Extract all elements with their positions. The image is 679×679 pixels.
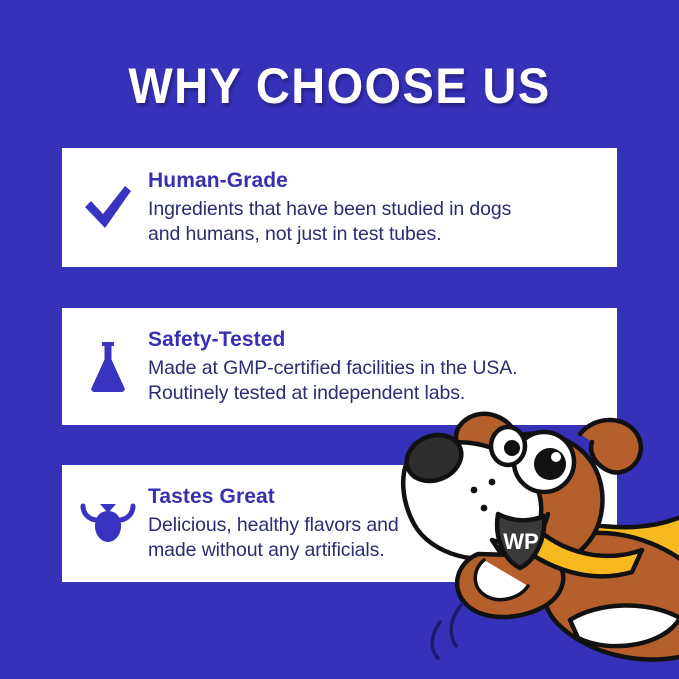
- motion-line: [432, 622, 440, 658]
- checkmark-icon: [62, 148, 148, 267]
- flask-icon: [62, 308, 148, 425]
- pupil-left: [504, 440, 520, 456]
- feature-card-text: Made at GMP-certified facilities in the …: [148, 356, 518, 406]
- feature-card-heading: Tastes Great: [148, 484, 399, 510]
- feature-card-text: Delicious, healthy flavors and made with…: [148, 513, 399, 563]
- belly: [570, 605, 679, 646]
- feature-card-safety-tested: Safety-Tested Made at GMP-certified faci…: [62, 308, 617, 425]
- promo-graphic: WHY CHOOSE US Human-Grade Ingredients th…: [0, 0, 679, 679]
- feature-card-human-grade: Human-Grade Ingredients that have been s…: [62, 148, 617, 267]
- feature-card-body: Safety-Tested Made at GMP-certified faci…: [148, 327, 532, 406]
- feature-card-body: Tastes Great Delicious, healthy flavors …: [148, 484, 413, 563]
- eye-glint: [551, 452, 561, 462]
- page-title: WHY CHOOSE US: [20, 56, 658, 116]
- tongue-icon: [62, 465, 148, 582]
- feature-card-tastes-great: Tastes Great Delicious, healthy flavors …: [62, 465, 617, 582]
- feature-card-heading: Human-Grade: [148, 168, 511, 194]
- feature-card-body: Human-Grade Ingredients that have been s…: [148, 168, 525, 247]
- eye-left: [491, 427, 525, 465]
- motion-line: [451, 604, 462, 646]
- feature-card-heading: Safety-Tested: [148, 327, 518, 353]
- feature-card-text: Ingredients that have been studied in do…: [148, 197, 511, 247]
